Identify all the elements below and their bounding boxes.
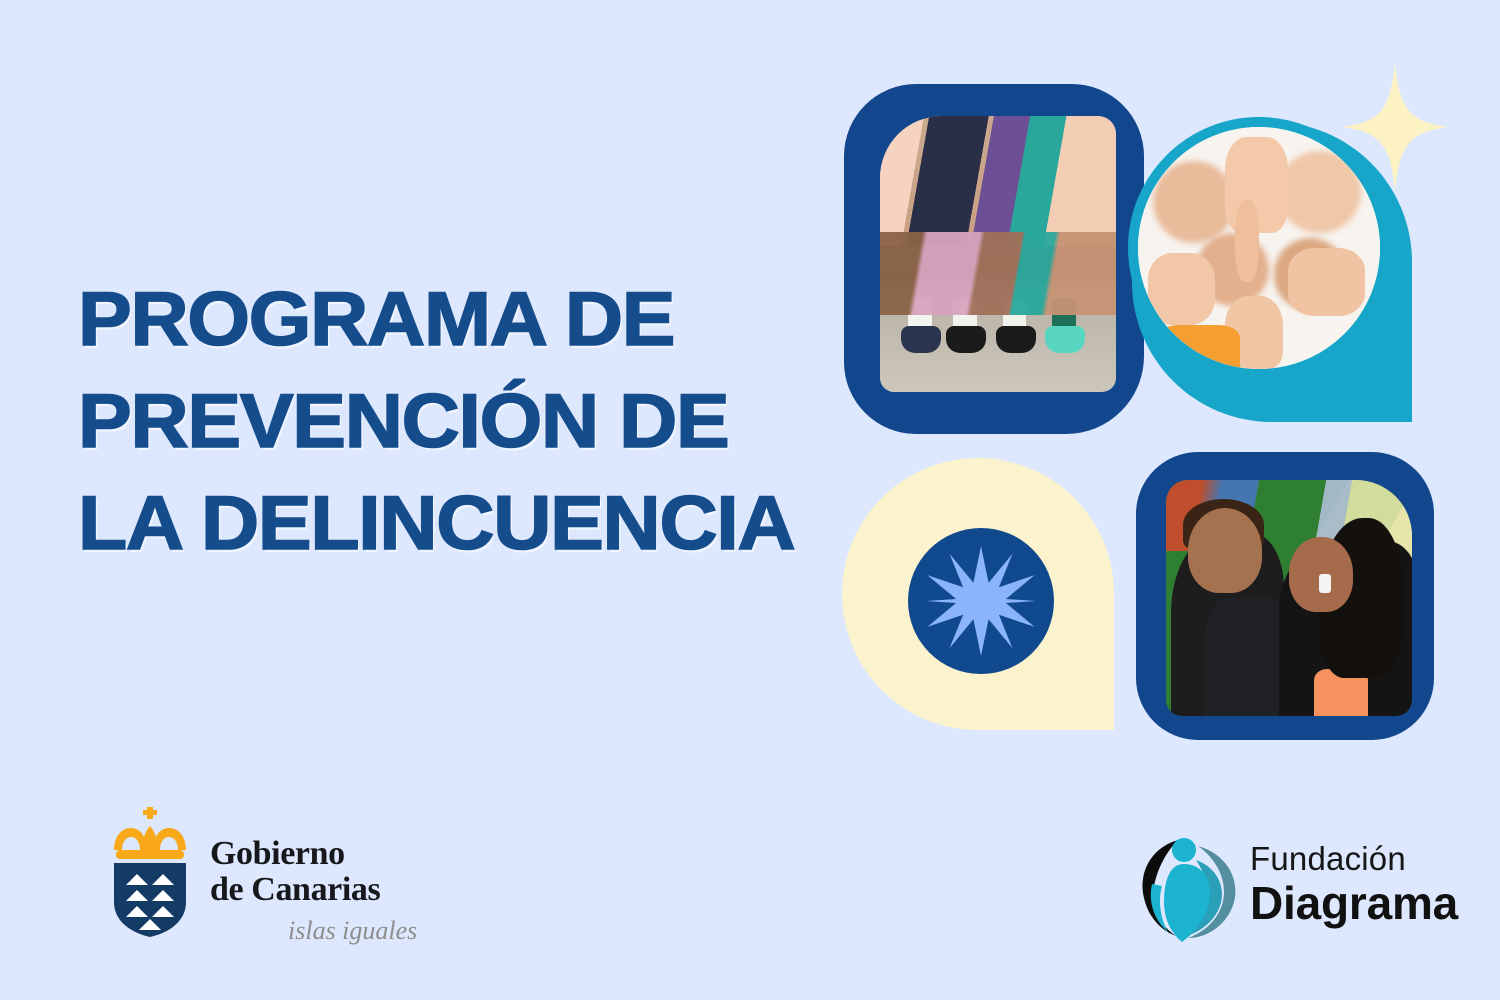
page-title: PROGRAMA DE PREVENCIÓN DE LA DELINCUENCI… xyxy=(78,282,838,562)
diagrama-line-1: Fundación xyxy=(1250,842,1458,875)
photo-teens-sitting-on-wall xyxy=(880,116,1116,392)
photo-two-teens-graffiti-wall xyxy=(1166,480,1412,716)
photo-hands-thumbs-circle xyxy=(1128,117,1390,379)
poster-canvas: PROGRAMA DE PREVENCIÓN DE LA DELINCUENCI… xyxy=(0,0,1500,1000)
title-line-1: PROGRAMA DE xyxy=(78,282,884,358)
canarias-crown-shield-icon xyxy=(104,806,196,938)
image-collage xyxy=(840,62,1460,742)
diagrama-figure-swirl-icon xyxy=(1138,830,1246,946)
title-line-2: PREVENCIÓN DE xyxy=(78,384,884,460)
diagrama-wordmark: Fundación Diagrama xyxy=(1250,842,1458,927)
canarias-tagline: islas iguales xyxy=(288,916,417,946)
title-line-3: LA DELINCUENCIA xyxy=(78,486,884,562)
canarias-wordmark: Gobierno de Canarias islas iguales xyxy=(210,836,417,946)
diagrama-line-2: Diagrama xyxy=(1250,879,1458,927)
canarias-line-1: Gobierno xyxy=(210,836,417,872)
logo-gobierno-de-canarias: Gobierno de Canarias islas iguales xyxy=(104,806,434,966)
photo-frame-street-teens xyxy=(1136,452,1434,740)
canarias-line-2: de Canarias xyxy=(210,872,417,908)
photo-frame-teens xyxy=(844,84,1144,434)
eleven-point-star-icon xyxy=(908,528,1054,674)
logo-fundacion-diagrama: Fundación Diagrama xyxy=(1138,828,1438,952)
